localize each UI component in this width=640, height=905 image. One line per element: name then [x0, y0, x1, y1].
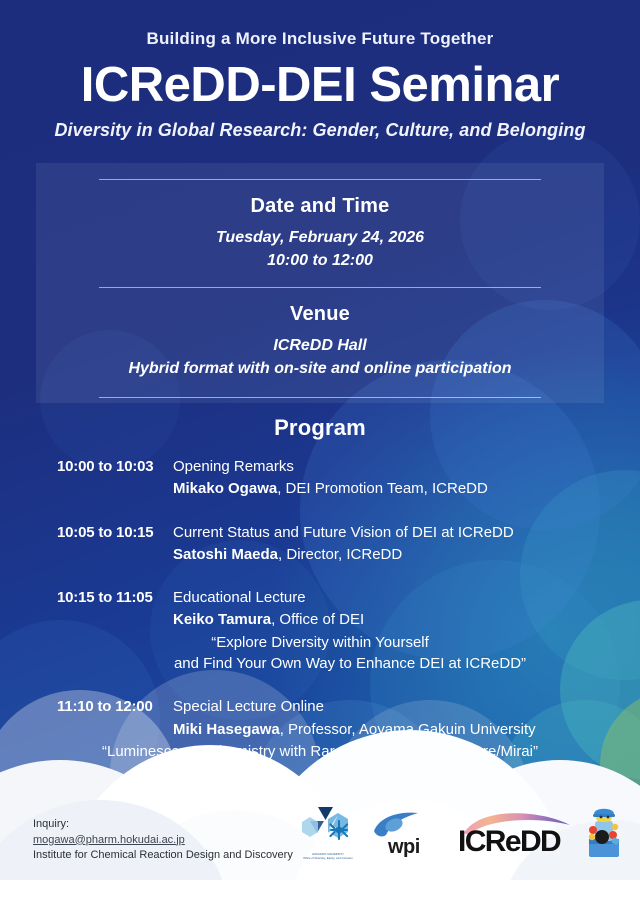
speaker-affiliation: , Office of DEI — [271, 611, 364, 628]
hokudai-caption-line2: Office of Diversity, Equity, and Inclusi… — [303, 857, 352, 860]
tagline: Building a More Inclusive Future Togethe… — [0, 29, 640, 49]
divider — [99, 397, 541, 398]
program-item-title: Opening Remarks — [173, 456, 488, 477]
program-item-time: 10:05 to 10:15 — [57, 522, 173, 566]
icredd-mascot-logo — [582, 805, 626, 861]
icredd-logo-text: ICReDD — [458, 825, 560, 859]
program-item-title: Special Lecture Online — [173, 696, 536, 717]
logo-row: HOKKAIDO UNIVERSITY Office of Diversity,… — [294, 803, 626, 861]
speaker-name: Miki Hasegawa — [173, 721, 280, 738]
poster-header: Building a More Inclusive Future Togethe… — [0, 0, 640, 141]
program-item-time: 10:00 to 10:03 — [57, 456, 173, 500]
icredd-logo: ICReDD — [458, 811, 570, 861]
hokudai-caption-line1: HOKKAIDO UNIVERSITY — [312, 853, 344, 856]
program-item-time: 11:10 to 12:00 — [57, 696, 173, 740]
hokkaido-university-dei-logo: HOKKAIDO UNIVERSITY Office of Diversity,… — [294, 803, 362, 861]
program-item-speaker: Mikako Ogawa, DEI Promotion Team, ICReDD — [173, 478, 488, 499]
wpi-logo: wpi — [374, 811, 446, 861]
poster-footer: Inquiry: mogawa@pharm.hokudai.ac.jp Inst… — [0, 795, 640, 905]
page-title: ICReDD-DEI Seminar — [0, 60, 640, 111]
subtitle: Diversity in Global Research: Gender, Cu… — [0, 120, 640, 141]
venue-format: Hybrid format with on-site and online pa… — [36, 358, 604, 381]
speaker-affiliation: , Director, ICReDD — [278, 546, 402, 563]
venue-name: ICReDD Hall — [36, 335, 604, 358]
program-item-quote: “Explore Diversity within Yourself and F… — [0, 632, 640, 675]
venue-heading: Venue — [36, 303, 604, 326]
program-item: 10:05 to 10:15 Current Status and Future… — [0, 522, 640, 566]
seminar-poster: Building a More Inclusive Future Togethe… — [0, 0, 640, 905]
program-item: 11:10 to 12:00 Special Lecture Online Mi… — [0, 696, 640, 762]
inquiry-email-link[interactable]: mogawa@pharm.hokudai.ac.jp — [33, 833, 293, 849]
speaker-name: Keiko Tamura — [173, 611, 271, 628]
program-item-speaker: Miki Hasegawa, Professor, Aoyama Gakuin … — [173, 719, 536, 740]
institute-name: Institute for Chemical Reaction Design a… — [33, 848, 293, 864]
speaker-affiliation: , Professor, Aoyama Gakuin University — [280, 721, 536, 738]
program-item-speaker: Satoshi Maeda, Director, ICReDD — [173, 544, 514, 565]
speaker-affiliation: , DEI Promotion Team, ICReDD — [277, 480, 488, 497]
time-line: 10:00 to 12:00 — [36, 250, 604, 273]
program-section: Program 10:00 to 10:03 Opening Remarks M… — [0, 415, 640, 784]
program-item: 10:00 to 10:03 Opening Remarks Mikako Og… — [0, 456, 640, 500]
date-and-time-value: Tuesday, February 24, 2026 10:00 to 12:0… — [36, 227, 604, 272]
program-item-title: Current Status and Future Vision of DEI … — [173, 522, 514, 543]
program-heading: Program — [0, 415, 640, 441]
quote-line: and Find Your Own Way to Enhance DEI at … — [0, 653, 640, 674]
inquiry-label: Inquiry: — [33, 817, 293, 833]
program-item: 10:15 to 11:05 Educational Lecture Keiko… — [0, 587, 640, 674]
divider — [99, 287, 541, 288]
program-item-quote: “Luminescence Chemistry with Rare Earths… — [0, 741, 640, 762]
quote-line: “Luminescence Chemistry with Rare Earths… — [0, 741, 640, 762]
speaker-name: Mikako Ogawa — [173, 480, 277, 497]
mascot-character-icon — [582, 805, 626, 861]
program-list: 10:00 to 10:03 Opening Remarks Mikako Og… — [0, 456, 640, 762]
quote-line: “Explore Diversity within Yourself — [0, 632, 640, 653]
wpi-logo-text: wpi — [388, 836, 420, 859]
divider — [99, 179, 541, 180]
program-item-speaker: Keiko Tamura, Office of DEI — [173, 609, 364, 630]
speaker-name: Satoshi Maeda — [173, 546, 278, 563]
event-info-panel: Date and Time Tuesday, February 24, 2026… — [36, 163, 604, 403]
venue-value: ICReDD Hall Hybrid format with on-site a… — [36, 335, 604, 380]
program-item-title: Educational Lecture — [173, 587, 364, 608]
hokudai-logo-caption: HOKKAIDO UNIVERSITY Office of Diversity,… — [294, 853, 362, 861]
date-line: Tuesday, February 24, 2026 — [36, 227, 604, 250]
inquiry-block: Inquiry: mogawa@pharm.hokudai.ac.jp Inst… — [33, 817, 293, 864]
date-and-time-heading: Date and Time — [36, 195, 604, 218]
program-item-time: 10:15 to 11:05 — [57, 587, 173, 631]
